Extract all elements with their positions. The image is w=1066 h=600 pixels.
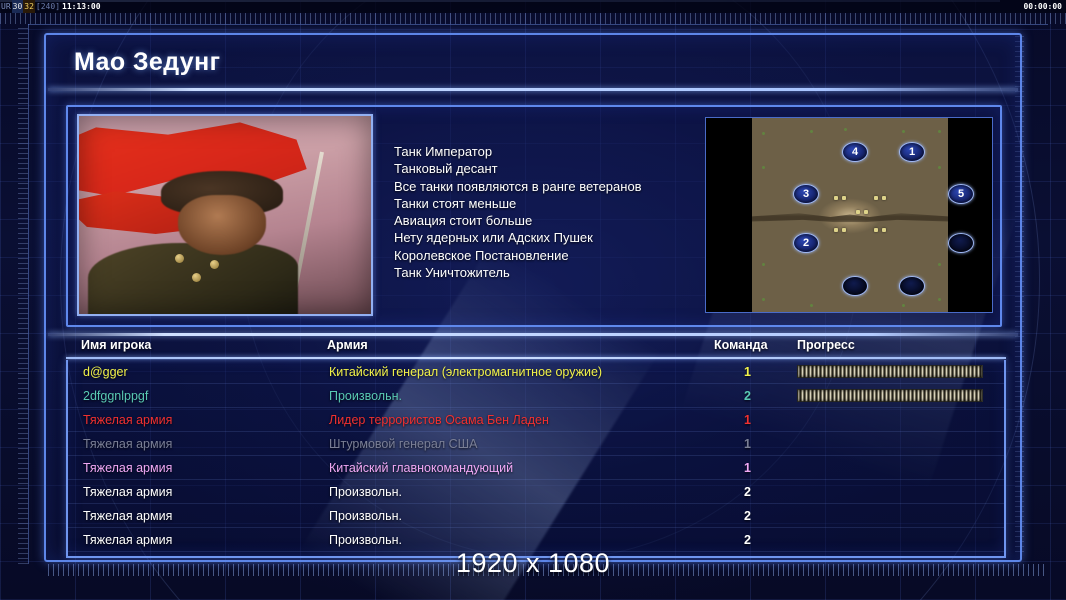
player-army: Лидер террористов Осама Бен Ладен	[329, 408, 549, 432]
map-start-position[interactable]: 4	[842, 142, 868, 162]
player-name: d@gger	[83, 360, 128, 384]
portrait-vignette	[79, 116, 371, 314]
map-tree-icon	[938, 130, 941, 133]
player-army: Китайский главнокомандующий	[329, 456, 513, 480]
map-tree-icon	[938, 166, 941, 169]
progress-bar	[797, 365, 983, 378]
map-supply-icon	[874, 228, 878, 232]
map-tree-icon	[902, 130, 905, 133]
map-tree-icon	[938, 263, 941, 266]
status-value-3: [240]	[35, 0, 61, 13]
table-top-divider	[48, 333, 1018, 336]
player-army: Произвольн.	[329, 504, 402, 528]
map-tree-icon	[810, 130, 813, 133]
player-row[interactable]: 2dfggnlppgfПроизвольн.2	[68, 384, 1004, 408]
player-name: Тяжелая армия	[83, 456, 172, 480]
player-name: Тяжелая армия	[83, 504, 172, 528]
table-header-divider	[66, 357, 1006, 359]
progress-bar	[797, 389, 983, 402]
player-team: 1	[744, 456, 751, 480]
map-tree-icon	[762, 263, 765, 266]
player-team: 2	[744, 384, 751, 408]
header-army: Армия	[327, 338, 368, 352]
player-row[interactable]: Тяжелая армияШтурмовой генерал США1	[68, 432, 1004, 456]
player-progress	[797, 389, 983, 402]
header-team: Команда	[714, 338, 768, 352]
map-supply-icon	[874, 196, 878, 200]
edge-line-left	[28, 24, 29, 564]
page-title-bar: Мао Зедунг	[46, 36, 1020, 89]
map-start-position[interactable]: 5	[948, 184, 974, 204]
match-timer: 00:00:00	[1023, 0, 1062, 13]
player-team: 1	[744, 432, 751, 456]
player-row[interactable]: Тяжелая армияПроизвольн.2	[68, 504, 1004, 528]
bonus-line: Авиация стоит больше	[394, 212, 694, 229]
bonus-line: Нету ядерных или Адских Пушек	[394, 229, 694, 246]
map-tree-icon	[902, 304, 905, 307]
player-name: Тяжелая армия	[83, 432, 172, 456]
map-supply-icon	[834, 196, 838, 200]
player-army: Произвольн.	[329, 384, 402, 408]
map-tree-icon	[844, 128, 847, 131]
title-divider	[48, 88, 1018, 91]
status-value-1: 30	[12, 0, 24, 13]
player-row[interactable]: Тяжелая армияПроизвольн.2	[68, 480, 1004, 504]
map-start-position[interactable]	[899, 276, 925, 296]
map-start-position[interactable]	[842, 276, 868, 296]
general-portrait	[77, 114, 373, 316]
player-progress	[797, 365, 983, 378]
map-start-position[interactable]: 1	[899, 142, 925, 162]
map-tree-icon	[938, 298, 941, 301]
status-bar: UR3032[240]11:13:00 00:00:00	[0, 0, 1066, 13]
status-label: UR	[0, 0, 12, 13]
player-name: Тяжелая армия	[83, 480, 172, 504]
player-team: 2	[744, 504, 751, 528]
map-tree-icon	[762, 298, 765, 301]
status-clock: 11:13:00	[61, 0, 102, 13]
ruler-top	[0, 13, 1066, 24]
player-army: Китайский генерал (электромагнитное оруж…	[329, 360, 602, 384]
map-start-position[interactable]: 3	[793, 184, 819, 204]
player-row[interactable]: d@ggerКитайский генерал (электромагнитно…	[68, 360, 1004, 384]
map-start-position[interactable]	[948, 233, 974, 253]
header-progress: Прогресс	[797, 338, 855, 352]
bonus-line: Танк Император	[394, 143, 694, 160]
player-army: Штурмовой генерал США	[329, 432, 477, 456]
player-team: 2	[744, 480, 751, 504]
bonus-line: Танки стоят меньше	[394, 195, 694, 212]
map-preview: 41352	[705, 117, 993, 313]
general-bonus-list: Танк ИмператорТанковый десантВсе танки п…	[394, 143, 694, 281]
map-supply-icon	[842, 196, 846, 200]
player-name: Тяжелая армия	[83, 408, 172, 432]
bonus-line: Все танки появляются в ранге ветеранов	[394, 178, 694, 195]
header-player-name: Имя игрока	[81, 338, 151, 352]
map-tree-icon	[762, 132, 765, 135]
player-army: Произвольн.	[329, 480, 402, 504]
ruler-left	[18, 24, 28, 564]
player-list: d@ggerКитайский генерал (электромагнитно…	[66, 360, 1006, 558]
bonus-line: Королевское Постановление	[394, 247, 694, 264]
table-header-row: Имя игрока Армия Команда Прогресс	[66, 338, 1006, 358]
map-supply-icon	[864, 210, 868, 214]
map-supply-icon	[882, 196, 886, 200]
status-value-2: 32	[23, 0, 35, 13]
resolution-overlay: 1920 x 1080	[0, 548, 1066, 579]
map-tree-icon	[810, 304, 813, 307]
edge-line-top	[28, 24, 1048, 25]
player-team: 1	[744, 408, 751, 432]
map-supply-icon	[856, 210, 860, 214]
bonus-line: Танковый десант	[394, 160, 694, 177]
player-team: 1	[744, 360, 751, 384]
map-tree-icon	[762, 166, 765, 169]
page-title: Мао Зедунг	[74, 48, 220, 77]
player-row[interactable]: Тяжелая армияЛидер террористов Осама Бен…	[68, 408, 1004, 432]
player-name: 2dfggnlppgf	[83, 384, 148, 408]
map-supply-icon	[842, 228, 846, 232]
map-start-position[interactable]: 2	[793, 233, 819, 253]
map-supply-icon	[882, 228, 886, 232]
map-supply-icon	[834, 228, 838, 232]
game-screen: UR3032[240]11:13:00 00:00:00 Мао Зедунг …	[0, 0, 1066, 600]
player-row[interactable]: Тяжелая армияКитайский главнокомандующий…	[68, 456, 1004, 480]
bonus-line: Танк Уничтожитель	[394, 264, 694, 281]
